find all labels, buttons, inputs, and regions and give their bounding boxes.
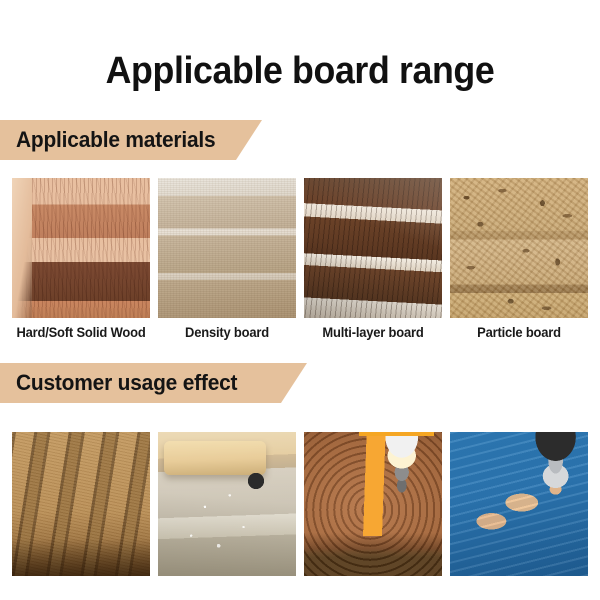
materials-image-grid: Hard/Soft Solid Wood Density board Multi… bbox=[12, 178, 588, 341]
density-board-texture-icon bbox=[158, 178, 296, 318]
usage-card-blue-board-drilling bbox=[450, 432, 588, 576]
material-card-density-board: Density board bbox=[158, 178, 296, 341]
particle-board-photo bbox=[450, 178, 588, 318]
usage-card-cnc-spindle-cutting bbox=[304, 432, 442, 576]
solid-wood-photo bbox=[12, 178, 150, 318]
usage-card-cnc-machine-bed bbox=[158, 432, 296, 576]
material-caption: Multi-layer board bbox=[307, 325, 439, 341]
material-card-particle-board: Particle board bbox=[450, 178, 588, 341]
material-card-solid-wood: Hard/Soft Solid Wood bbox=[12, 178, 150, 341]
solid-wood-texture-icon bbox=[12, 178, 150, 318]
section-banner-applicable-materials: Applicable materials bbox=[0, 120, 262, 160]
cnc-machine-bed-icon bbox=[158, 432, 296, 576]
cnc-spindle-icon bbox=[304, 432, 442, 576]
routed-grooves-icon bbox=[12, 432, 150, 576]
cnc-machine-bed-photo bbox=[158, 432, 296, 576]
page-title: Applicable board range bbox=[18, 49, 582, 93]
section-banner-label: Customer usage effect bbox=[16, 371, 237, 395]
usage-image-grid bbox=[12, 432, 588, 576]
material-caption: Hard/Soft Solid Wood bbox=[15, 325, 147, 341]
grooved-board-photo bbox=[12, 432, 150, 576]
blue-board-drilling-photo bbox=[450, 432, 588, 576]
density-board-photo bbox=[158, 178, 296, 318]
drill-bit-on-blue-board-icon bbox=[450, 432, 588, 576]
plywood-layers-texture-icon bbox=[304, 178, 442, 318]
section-banner-label: Applicable materials bbox=[16, 128, 215, 152]
cnc-spindle-cutting-photo bbox=[304, 432, 442, 576]
multi-layer-board-photo bbox=[304, 178, 442, 318]
material-caption: Particle board bbox=[453, 325, 585, 341]
product-info-page: Applicable board range Applicable materi… bbox=[0, 0, 600, 600]
section-banner-customer-usage-effect: Customer usage effect bbox=[0, 363, 307, 403]
material-caption: Density board bbox=[161, 325, 293, 341]
usage-card-grooved-board bbox=[12, 432, 150, 576]
material-card-multi-layer-board: Multi-layer board bbox=[304, 178, 442, 341]
particle-board-texture-icon bbox=[450, 178, 588, 318]
